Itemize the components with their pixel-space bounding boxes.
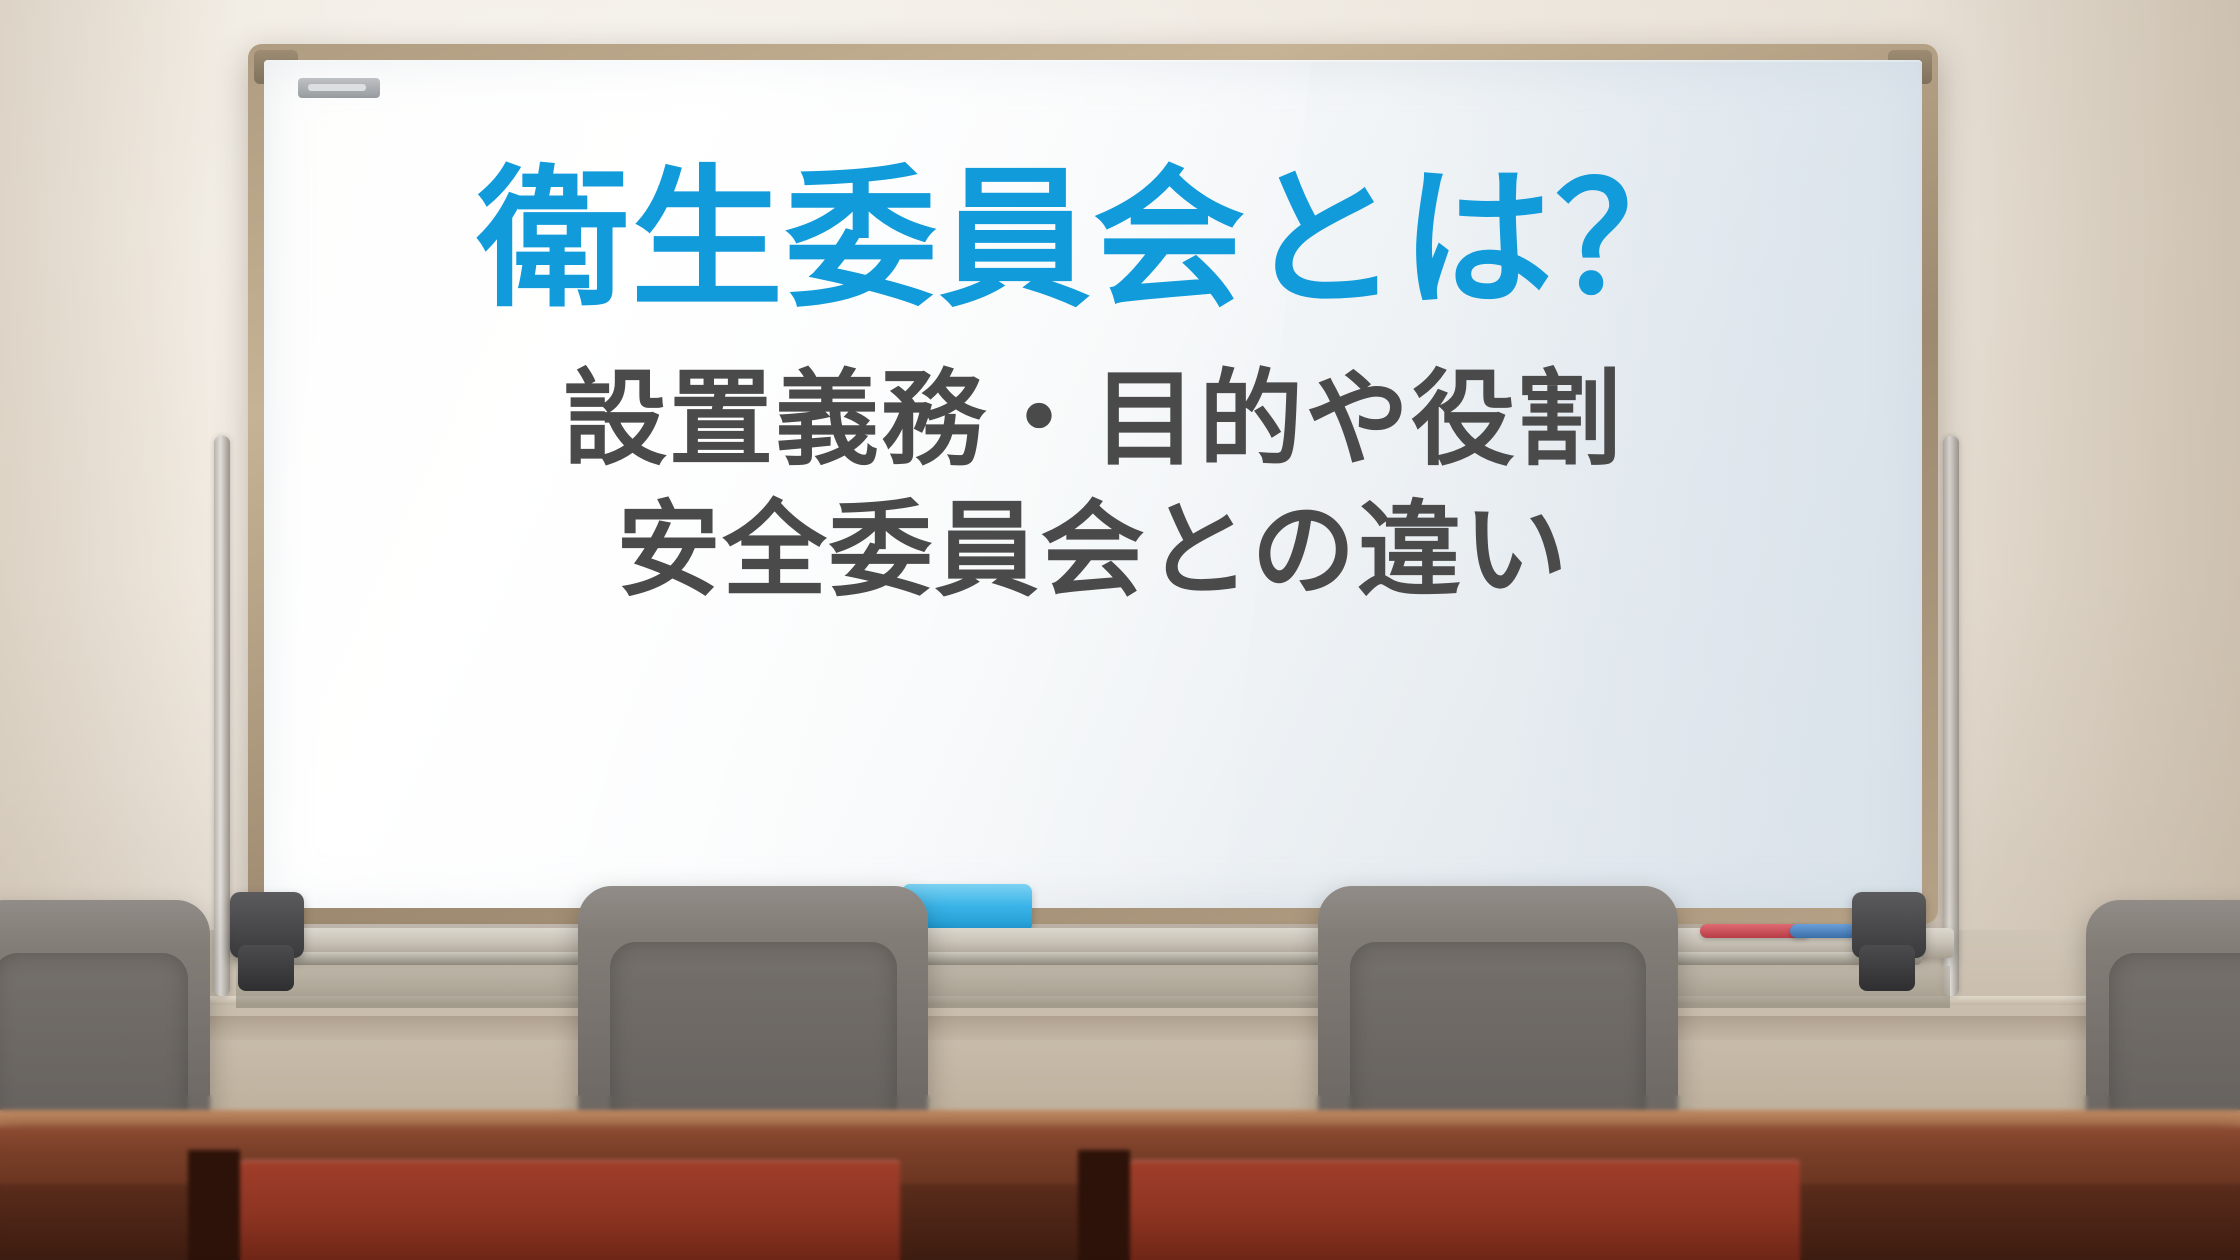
whiteboard-leg-left — [214, 436, 230, 996]
meeting-desk — [1130, 1160, 1800, 1260]
whiteboard-frame: 衛生委員会とは？ 設置義務・目的や役割 安全委員会との違い — [248, 44, 1938, 924]
whiteboard-clamp-right — [1859, 945, 1915, 991]
wall-right-shading — [1910, 0, 2240, 1020]
whiteboard-clamp-left — [238, 945, 294, 991]
subtitle-line-1: 設置義務・目的や役割 — [563, 353, 1623, 484]
subtitle-line-2: 安全委員会との違い — [563, 484, 1623, 615]
whiteboard-leg-right — [1943, 436, 1959, 996]
whiteboard-surface: 衛生委員会とは？ 設置義務・目的や役割 安全委員会との違い — [264, 60, 1922, 908]
desk-gap — [1078, 1150, 1130, 1260]
wall-left-shading — [0, 0, 240, 1020]
desk-gap — [188, 1150, 240, 1260]
meeting-desk — [240, 1160, 900, 1260]
whiteboard-text-block: 衛生委員会とは？ 設置義務・目的や役割 安全委員会との違い — [264, 60, 1922, 908]
wall-shadow-line — [0, 1016, 2240, 1040]
hero-image-canvas: 衛生委員会とは？ 設置義務・目的や役割 安全委員会との違い — [0, 0, 2240, 1260]
pen-tray-underside — [236, 966, 1950, 1008]
page-subtitle: 設置義務・目的や役割 安全委員会との違い — [563, 353, 1623, 615]
page-title: 衛生委員会とは？ — [477, 158, 1709, 319]
